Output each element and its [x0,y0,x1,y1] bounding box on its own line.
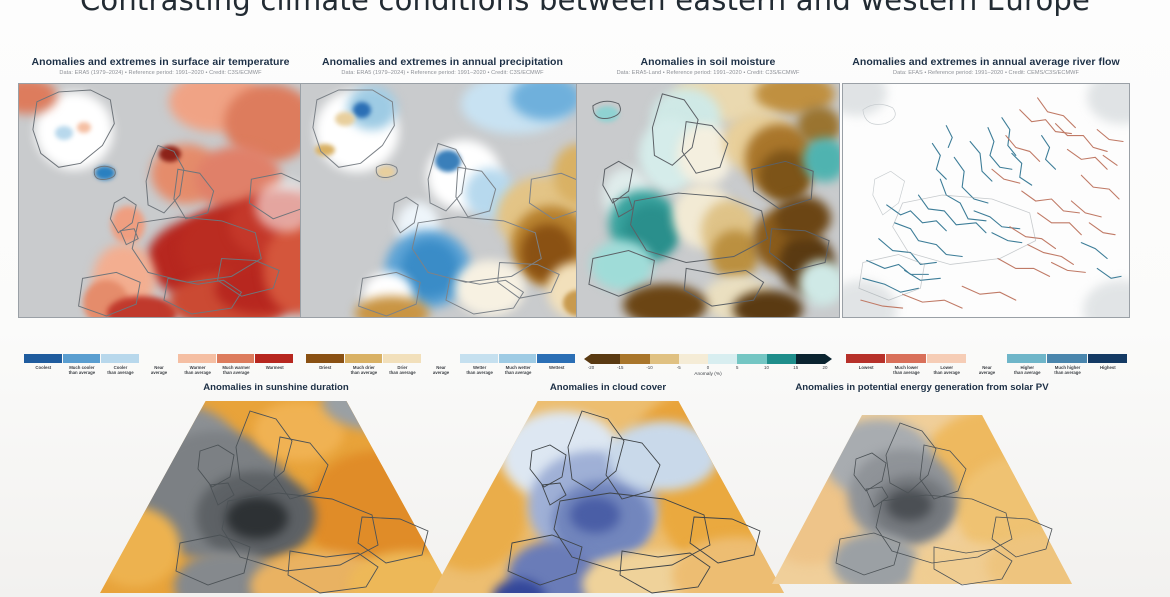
map-canvas-soil-moisture [577,84,839,317]
colorbar-segment [591,354,620,364]
colorbar-tick: -10 [646,365,652,370]
legend-label: Much cooler than average [63,365,102,375]
map-canvas-temperature [19,84,302,317]
map-solar-pv[interactable] [772,415,1072,591]
legend-swatch [140,354,178,363]
legend-labels-temperature: CoolestMuch cooler than averageCooler th… [24,365,294,375]
legend-label: Highest [1088,365,1128,375]
legend-label: Near average [422,365,461,375]
legend-swatch [460,354,498,363]
colorbar-segment [767,354,796,364]
legend-swatch [24,354,62,363]
legend-swatches-river-flow [846,354,1128,363]
screenshot-root: Contrasting climate conditions between e… [0,0,1170,597]
panel-subtitle-soil-moisture: Data: ERA5-Land • Reference period: 1991… [576,69,840,78]
legend-label: Near average [967,365,1007,375]
panel-title-annual-precipitation: Anomalies and extremes in annual precipi… [300,56,585,68]
panel-solar-pv-energy-generation: Anomalies in potential energy generation… [772,382,1072,591]
colorbar-segment [796,354,825,364]
panel-title-sunshine-duration: Anomalies in sunshine duration [100,382,452,393]
legend-swatches-temperature [24,354,294,363]
map-surface-air-temperature[interactable] [18,83,303,318]
legend-swatch [886,354,925,363]
legend-label: Lower than average [927,365,967,375]
legend-label: Drier than average [383,365,422,375]
legend-river-flow: LowestMuch lower than averageLower than … [846,354,1128,375]
legend-swatch [927,354,966,363]
map-canvas-river-flow [843,84,1129,317]
legend-swatch [383,354,421,363]
map-canvas-solar-pv [772,415,1072,591]
legend-label: Wetter than average [460,365,499,375]
panel-title-soil-moisture: Anomalies in soil moisture [576,56,840,68]
legend-label: Much higher than average [1047,365,1087,375]
legend-precipitation: DriestMuch drier than averageDrier than … [306,354,576,375]
legend-swatch [1088,354,1127,363]
legend-label: Much wetter than average [499,365,538,375]
legend-label: Near average [140,365,179,375]
legend-swatch [1007,354,1046,363]
colorbar-tick: -15 [617,365,623,370]
legend-swatch [217,354,255,363]
legend-swatch [178,354,216,363]
panel-title-surface-air-temperature: Anomalies and extremes in surface air te… [18,56,303,68]
panel-surface-air-temperature: Anomalies and extremes in surface air te… [18,56,303,318]
legend-swatch [63,354,101,363]
legend-swatch [255,354,293,363]
panel-soil-moisture: Anomalies in soil moisture Data: ERA5-La… [576,56,840,318]
legend-swatch [499,354,537,363]
legend-label: Warmer than average [178,365,217,375]
legend-label: Higher than average [1007,365,1047,375]
panel-sunshine-duration: Anomalies in sunshine duration [100,382,452,597]
legend-label: Driest [306,365,345,375]
legend-label: Coolest [24,365,63,375]
legend-swatch [1047,354,1086,363]
map-cloud-cover[interactable] [432,401,784,597]
colorbar-right-arrow-icon [825,354,832,364]
panel-subtitle-surface-air-temperature: Data: ERA5 (1979–2024) • Reference perio… [18,69,303,78]
panel-subtitle-annual-average-river-flow: Data: EFAS • Reference period: 1991–2020… [842,69,1130,78]
colorbar-tick: 15 [793,365,798,370]
legend-temperature: CoolestMuch cooler than averageCooler th… [24,354,294,375]
legend-swatch [101,354,139,363]
legend-swatches-precipitation [306,354,576,363]
colorbar-tick: -5 [677,365,681,370]
legend-label: Lowest [846,365,886,375]
map-canvas-cloud-cover [432,401,784,597]
legend-labels-river-flow: LowestMuch lower than averageLower than … [846,365,1128,375]
legend-label: Much warmer than average [217,365,256,375]
colorbar-tick: 5 [736,365,738,370]
colorbar-segment [737,354,766,364]
legend-label: Cooler than average [101,365,140,375]
map-soil-moisture[interactable] [576,83,840,318]
map-canvas-sunshine-duration [100,401,452,597]
map-annual-precipitation[interactable] [300,83,585,318]
colorbar-row-soil-moisture [584,354,832,364]
legend-labels-precipitation: DriestMuch drier than averageDrier than … [306,365,576,375]
legend-swatch [967,354,1006,363]
legend-label: Wettest [537,365,576,375]
legend-swatch [537,354,575,363]
colorbar-tick: 10 [764,365,769,370]
legend-swatch [422,354,460,363]
panel-title-annual-average-river-flow: Anomalies and extremes in annual average… [842,56,1130,68]
map-sunshine-duration[interactable] [100,401,452,597]
colorbar-left-arrow-icon [584,354,591,364]
colorbar-segment [620,354,649,364]
legend-swatch [306,354,344,363]
colorbar-segment [650,354,679,364]
legend-swatch [345,354,383,363]
panel-subtitle-annual-precipitation: Data: ERA5 (1979–2024) • Reference perio… [300,69,585,78]
page-title: Contrasting climate conditions between e… [0,0,1170,17]
colorbar-tick: 20 [823,365,828,370]
panel-cloud-cover: Anomalies in cloud cover [432,382,784,597]
map-annual-average-river-flow[interactable] [842,83,1130,318]
legend-swatch [846,354,885,363]
panel-annual-average-river-flow: Anomalies and extremes in annual average… [842,56,1130,318]
colorbar-tick: -20 [588,365,594,370]
colorbar-ticks-soil-moisture: -20-15-10-505101520 [584,365,832,373]
colorbar-tick: 0 [707,365,709,370]
legend-label: Much lower than average [886,365,926,375]
panel-title-cloud-cover: Anomalies in cloud cover [432,382,784,393]
colorbar-segment [708,354,737,364]
colorbar-soil-moisture: -20-15-10-505101520 Anomaly (%) [584,354,832,377]
colorbar-segments [591,354,825,364]
panel-title-solar-pv: Anomalies in potential energy generation… [772,382,1072,393]
colorbar-segment [679,354,708,364]
panel-annual-precipitation: Anomalies and extremes in annual precipi… [300,56,585,318]
map-canvas-precipitation [301,84,584,317]
legend-label: Warmest [255,365,294,375]
legend-label: Much drier than average [345,365,384,375]
